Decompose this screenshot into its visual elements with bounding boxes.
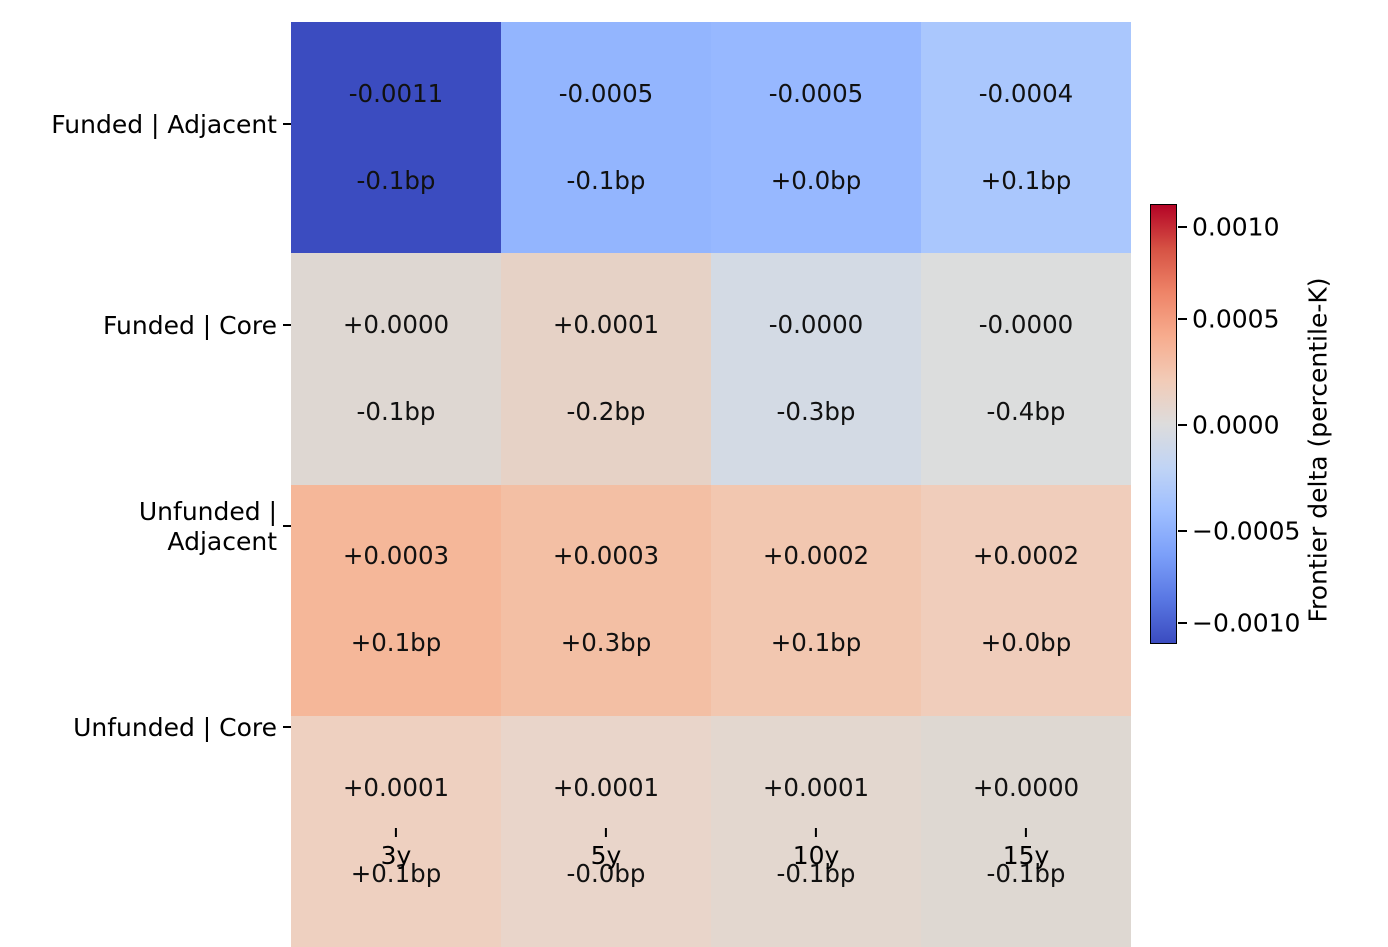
y-axis-label-unfunded-adjacent: Unfunded | Adjacent xyxy=(139,497,277,557)
heatmap-cell[interactable]: -0.0011 -0.1bp xyxy=(291,22,501,253)
x-axis-tick-mark-3 xyxy=(1025,828,1027,837)
heatmap-cell-value: -0.0005 -0.1bp xyxy=(559,22,654,253)
colorbar-tick-label-0: 0.0010 xyxy=(1192,213,1279,242)
x-axis-label-5y: 5y xyxy=(591,841,622,870)
y-axis-label-funded-adjacent: Funded | Adjacent xyxy=(51,110,277,140)
colorbar-tick-label-2: 0.0000 xyxy=(1192,411,1279,440)
heatmap-cell[interactable]: +0.0000 -0.1bp xyxy=(291,253,501,484)
colorbar-tick-label-1: 0.0005 xyxy=(1192,305,1279,334)
heatmap-cell-value: +0.0002 +0.0bp xyxy=(973,485,1079,716)
heatmap-cell[interactable]: -0.0004 +0.1bp xyxy=(921,22,1131,253)
colorbar-tick-mark-2 xyxy=(1178,424,1187,426)
x-axis-label-3y: 3y xyxy=(381,841,412,870)
x-axis-label-15y: 15y xyxy=(1003,841,1050,870)
colorbar-tick-mark-0 xyxy=(1178,226,1187,228)
colorbar-axis-title: Frontier delta (percentile-K) xyxy=(1304,278,1333,623)
heatmap-cell-value: -0.0000 -0.3bp xyxy=(769,253,864,484)
colorbar-tick-mark-3 xyxy=(1178,530,1187,532)
heatmap-cell-value: +0.0003 +0.1bp xyxy=(343,485,449,716)
x-axis-label-10y: 10y xyxy=(793,841,840,870)
heatmap-cell-value: +0.0002 +0.1bp xyxy=(763,485,869,716)
colorbar xyxy=(1150,204,1177,644)
colorbar-tick-mark-4 xyxy=(1178,622,1187,624)
heatmap-cell-value: +0.0001 -0.2bp xyxy=(553,253,659,484)
heatmap-cell-value: -0.0005 +0.0bp xyxy=(769,22,864,253)
colorbar-tick-mark-1 xyxy=(1178,318,1187,320)
x-axis-tick-mark-1 xyxy=(605,828,607,837)
heatmap-cell-value: +0.0003 +0.3bp xyxy=(553,485,659,716)
heatmap-cell[interactable]: +0.0003 +0.1bp xyxy=(291,485,501,716)
heatmap-cell[interactable]: +0.0001 -0.2bp xyxy=(501,253,711,484)
heatmap-cell[interactable]: +0.0002 +0.1bp xyxy=(711,485,921,716)
y-axis-label-funded-core: Funded | Core xyxy=(103,311,277,341)
colorbar-tick-label-3: −0.0005 xyxy=(1192,517,1300,546)
heatmap-cell-value: +0.0000 -0.1bp xyxy=(343,253,449,484)
heatmap-cell-value: -0.0000 -0.4bp xyxy=(979,253,1074,484)
x-axis-tick-mark-0 xyxy=(395,828,397,837)
x-axis-tick-mark-2 xyxy=(815,828,817,837)
heatmap-cell[interactable]: +0.0002 +0.0bp xyxy=(921,485,1131,716)
colorbar-tick-label-4: −0.0010 xyxy=(1192,609,1300,638)
heatmap-cell[interactable]: -0.0000 -0.3bp xyxy=(711,253,921,484)
y-axis-label-unfunded-core: Unfunded | Core xyxy=(73,713,277,743)
heatmap-cell-value: -0.0011 -0.1bp xyxy=(349,22,444,253)
heatmap-plot-area: -0.0011 -0.1bp -0.0005 -0.1bp -0.0005 +0… xyxy=(291,22,1131,827)
heatmap-cell[interactable]: -0.0000 -0.4bp xyxy=(921,253,1131,484)
colorbar-gradient xyxy=(1150,204,1177,644)
heatmap-cell[interactable]: +0.0003 +0.3bp xyxy=(501,485,711,716)
heatmap-figure: Funded | Adjacent Funded | Core Unfunded… xyxy=(0,0,1388,900)
heatmap-cell-value: -0.0004 +0.1bp xyxy=(979,22,1074,253)
heatmap-cell[interactable]: -0.0005 +0.0bp xyxy=(711,22,921,253)
heatmap-cell-grid: -0.0011 -0.1bp -0.0005 -0.1bp -0.0005 +0… xyxy=(291,22,1131,827)
heatmap-cell[interactable]: -0.0005 -0.1bp xyxy=(501,22,711,253)
